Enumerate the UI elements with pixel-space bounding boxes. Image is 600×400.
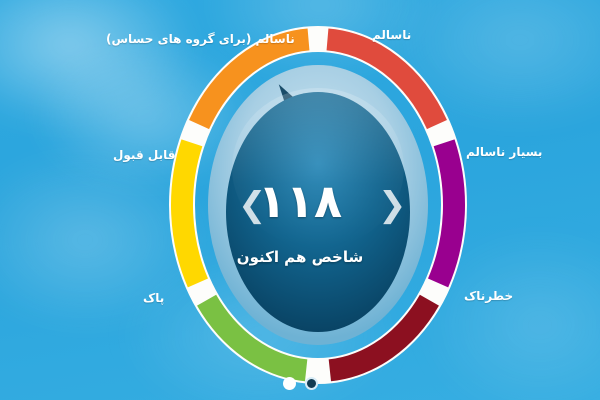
chevron-right-icon[interactable]: ❯ — [378, 186, 404, 224]
index-value: ۱۱۸ — [0, 178, 600, 224]
legend-label-usg: ناسالم (برای گروه های حساس) — [106, 32, 295, 46]
chevron-left-icon[interactable]: ❮ — [238, 186, 264, 224]
pagination-dot-1[interactable] — [283, 377, 296, 390]
legend-label-moderate: قابل قبول — [113, 148, 175, 162]
air-quality-widget: ۱۱۸ شاخص هم اکنون ❮ ❯ ناسالم (برای گروه … — [0, 0, 600, 400]
legend-label-good: پاک — [143, 291, 164, 305]
legend-label-very-unhealthy: بسیار ناسالم — [466, 145, 542, 159]
legend-label-unhealthy: ناسالم — [372, 28, 411, 42]
pagination-dots — [0, 377, 600, 390]
index-caption: شاخص هم اکنون — [0, 248, 600, 266]
pagination-dot-2[interactable] — [305, 377, 318, 390]
legend-label-hazardous: خطرناک — [464, 289, 513, 303]
